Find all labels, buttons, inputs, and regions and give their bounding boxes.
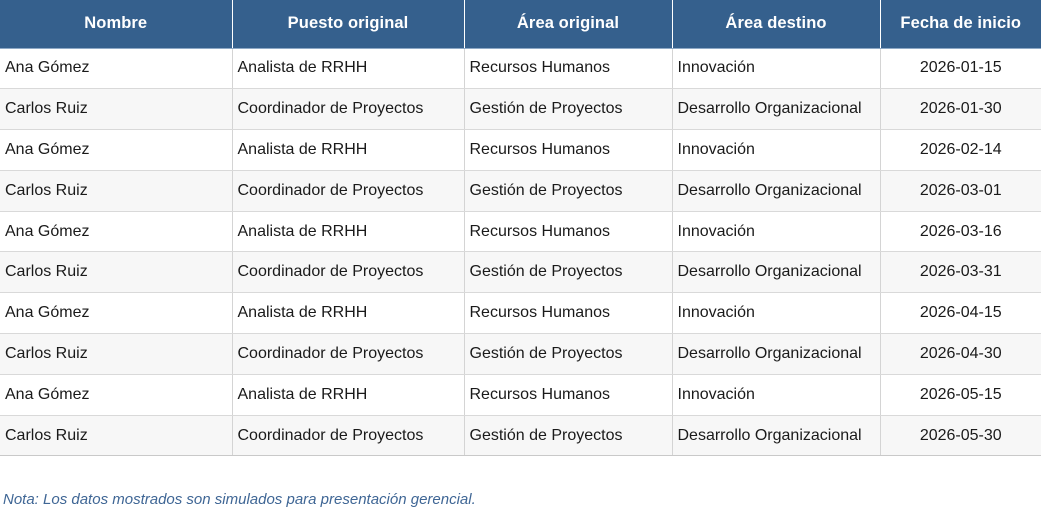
cell-area_destino: Innovación [672, 130, 880, 171]
cell-fecha: 2026-01-30 [880, 89, 1041, 130]
transfers-table-container: Nombre Puesto original Área original Áre… [0, 0, 1043, 456]
table-row[interactable]: Ana GómezAnalista de RRHHRecursos Humano… [0, 374, 1041, 415]
cell-area_origen: Gestión de Proyectos [464, 170, 672, 211]
table-row[interactable]: Carlos RuizCoordinador de ProyectosGesti… [0, 170, 1041, 211]
cell-area_origen: Recursos Humanos [464, 130, 672, 171]
cell-puesto: Coordinador de Proyectos [232, 334, 464, 375]
table-row[interactable]: Ana GómezAnalista de RRHHRecursos Humano… [0, 293, 1041, 334]
column-header-nombre[interactable]: Nombre [0, 0, 232, 48]
cell-area_origen: Gestión de Proyectos [464, 252, 672, 293]
transfers-table: Nombre Puesto original Área original Áre… [0, 0, 1041, 456]
cell-area_destino: Desarrollo Organizacional [672, 89, 880, 130]
column-header-area-destino[interactable]: Área destino [672, 0, 880, 48]
cell-fecha: 2026-03-01 [880, 170, 1041, 211]
table-row[interactable]: Ana GómezAnalista de RRHHRecursos Humano… [0, 48, 1041, 89]
cell-area_destino: Innovación [672, 374, 880, 415]
table-row[interactable]: Carlos RuizCoordinador de ProyectosGesti… [0, 89, 1041, 130]
cell-nombre: Carlos Ruiz [0, 334, 232, 375]
cell-puesto: Coordinador de Proyectos [232, 89, 464, 130]
column-header-fecha[interactable]: Fecha de inicio [880, 0, 1041, 48]
table-row[interactable]: Carlos RuizCoordinador de ProyectosGesti… [0, 415, 1041, 456]
column-header-puesto[interactable]: Puesto original [232, 0, 464, 48]
cell-fecha: 2026-02-14 [880, 130, 1041, 171]
cell-nombre: Carlos Ruiz [0, 252, 232, 293]
table-header: Nombre Puesto original Área original Áre… [0, 0, 1041, 48]
cell-area_origen: Gestión de Proyectos [464, 415, 672, 456]
cell-area_destino: Desarrollo Organizacional [672, 170, 880, 211]
table-row[interactable]: Ana GómezAnalista de RRHHRecursos Humano… [0, 211, 1041, 252]
cell-puesto: Analista de RRHH [232, 211, 464, 252]
table-body: Ana GómezAnalista de RRHHRecursos Humano… [0, 48, 1041, 456]
cell-fecha: 2026-05-30 [880, 415, 1041, 456]
table-row[interactable]: Carlos RuizCoordinador de ProyectosGesti… [0, 334, 1041, 375]
cell-puesto: Coordinador de Proyectos [232, 415, 464, 456]
cell-puesto: Analista de RRHH [232, 48, 464, 89]
table-header-row: Nombre Puesto original Área original Áre… [0, 0, 1041, 48]
cell-area_origen: Gestión de Proyectos [464, 89, 672, 130]
cell-puesto: Analista de RRHH [232, 130, 464, 171]
cell-puesto: Coordinador de Proyectos [232, 252, 464, 293]
cell-fecha: 2026-04-15 [880, 293, 1041, 334]
report-page: Nombre Puesto original Área original Áre… [0, 0, 1043, 514]
table-row[interactable]: Ana GómezAnalista de RRHHRecursos Humano… [0, 130, 1041, 171]
cell-area_destino: Desarrollo Organizacional [672, 334, 880, 375]
cell-nombre: Ana Gómez [0, 130, 232, 171]
cell-fecha: 2026-05-15 [880, 374, 1041, 415]
cell-area_destino: Desarrollo Organizacional [672, 415, 880, 456]
cell-nombre: Carlos Ruiz [0, 89, 232, 130]
cell-fecha: 2026-03-31 [880, 252, 1041, 293]
cell-area_origen: Recursos Humanos [464, 211, 672, 252]
cell-nombre: Carlos Ruiz [0, 415, 232, 456]
cell-area_origen: Recursos Humanos [464, 293, 672, 334]
table-row[interactable]: Carlos RuizCoordinador de ProyectosGesti… [0, 252, 1041, 293]
cell-area_destino: Innovación [672, 48, 880, 89]
cell-fecha: 2026-03-16 [880, 211, 1041, 252]
cell-area_origen: Gestión de Proyectos [464, 334, 672, 375]
cell-area_destino: Innovación [672, 293, 880, 334]
cell-puesto: Analista de RRHH [232, 374, 464, 415]
cell-fecha: 2026-01-15 [880, 48, 1041, 89]
cell-nombre: Ana Gómez [0, 48, 232, 89]
footer-note: Nota: Los datos mostrados son simulados … [3, 491, 476, 508]
cell-area_destino: Desarrollo Organizacional [672, 252, 880, 293]
cell-area_destino: Innovación [672, 211, 880, 252]
cell-nombre: Ana Gómez [0, 211, 232, 252]
cell-fecha: 2026-04-30 [880, 334, 1041, 375]
cell-puesto: Analista de RRHH [232, 293, 464, 334]
cell-nombre: Ana Gómez [0, 293, 232, 334]
cell-nombre: Carlos Ruiz [0, 170, 232, 211]
cell-puesto: Coordinador de Proyectos [232, 170, 464, 211]
column-header-area-origen[interactable]: Área original [464, 0, 672, 48]
cell-area_origen: Recursos Humanos [464, 48, 672, 89]
cell-area_origen: Recursos Humanos [464, 374, 672, 415]
cell-nombre: Ana Gómez [0, 374, 232, 415]
